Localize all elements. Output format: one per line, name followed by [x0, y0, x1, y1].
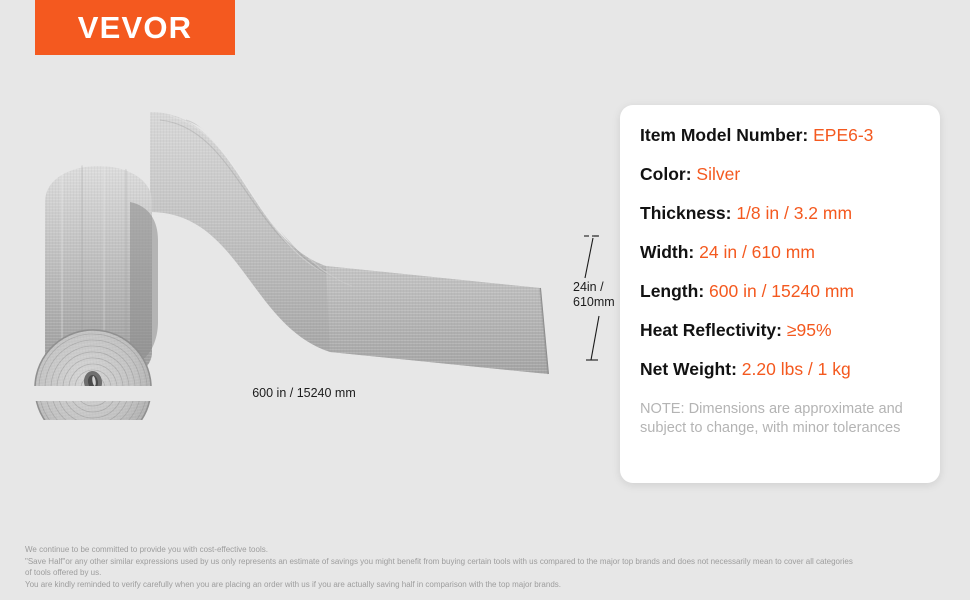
- spec-value-heat-reflectivity: ≥95%: [787, 320, 832, 340]
- spec-row-thickness: Thickness: 1/8 in / 3.2 mm: [640, 205, 920, 223]
- spec-row-length: Length: 600 in / 15240 mm: [640, 283, 920, 301]
- vevor-logo-text: VEVOR: [78, 12, 193, 43]
- spec-value-width: 24 in / 610 mm: [699, 242, 815, 262]
- spec-row-model: Item Model Number: EPE6-3: [640, 127, 920, 145]
- spec-value-thickness: 1/8 in / 3.2 mm: [736, 203, 852, 223]
- insulation-roll: [27, 154, 160, 420]
- spec-label-length: Length:: [640, 281, 704, 301]
- spec-label-model: Item Model Number:: [640, 125, 808, 145]
- product-image: [0, 90, 620, 420]
- spec-row-color: Color: Silver: [640, 166, 920, 184]
- disclaimer-line-4: You are kindly reminded to verify carefu…: [25, 579, 955, 591]
- vevor-logo: VEVOR: [35, 0, 235, 55]
- spec-value-net-weight: 2.20 lbs / 1 kg: [742, 359, 851, 379]
- disclaimer-line-1: We continue to be committed to provide y…: [25, 544, 955, 556]
- unrolled-sheet: [150, 112, 548, 374]
- spec-label-net-weight: Net Weight:: [640, 359, 737, 379]
- spec-row-heat-reflectivity: Heat Reflectivity: ≥95%: [640, 322, 920, 340]
- spec-note: NOTE: Dimensions are approximate and sub…: [640, 400, 918, 439]
- spec-label-thickness: Thickness:: [640, 203, 731, 223]
- disclaimer-line-2: "Save Half"or any other similar expressi…: [25, 556, 955, 568]
- disclaimer-line-3: of tools offered by us.: [25, 567, 955, 579]
- spec-value-length: 600 in / 15240 mm: [709, 281, 854, 301]
- spec-value-model: EPE6-3: [813, 125, 873, 145]
- spec-label-color: Color:: [640, 164, 692, 184]
- disclaimer: We continue to be committed to provide y…: [25, 544, 955, 590]
- spec-row-width: Width: 24 in / 610 mm: [640, 244, 920, 262]
- spec-value-color: Silver: [696, 164, 740, 184]
- specification-card: Item Model Number: EPE6-3 Color: Silver …: [620, 105, 940, 483]
- spec-label-heat-reflectivity: Heat Reflectivity:: [640, 320, 782, 340]
- spec-label-width: Width:: [640, 242, 694, 262]
- spec-row-net-weight: Net Weight: 2.20 lbs / 1 kg: [640, 361, 920, 379]
